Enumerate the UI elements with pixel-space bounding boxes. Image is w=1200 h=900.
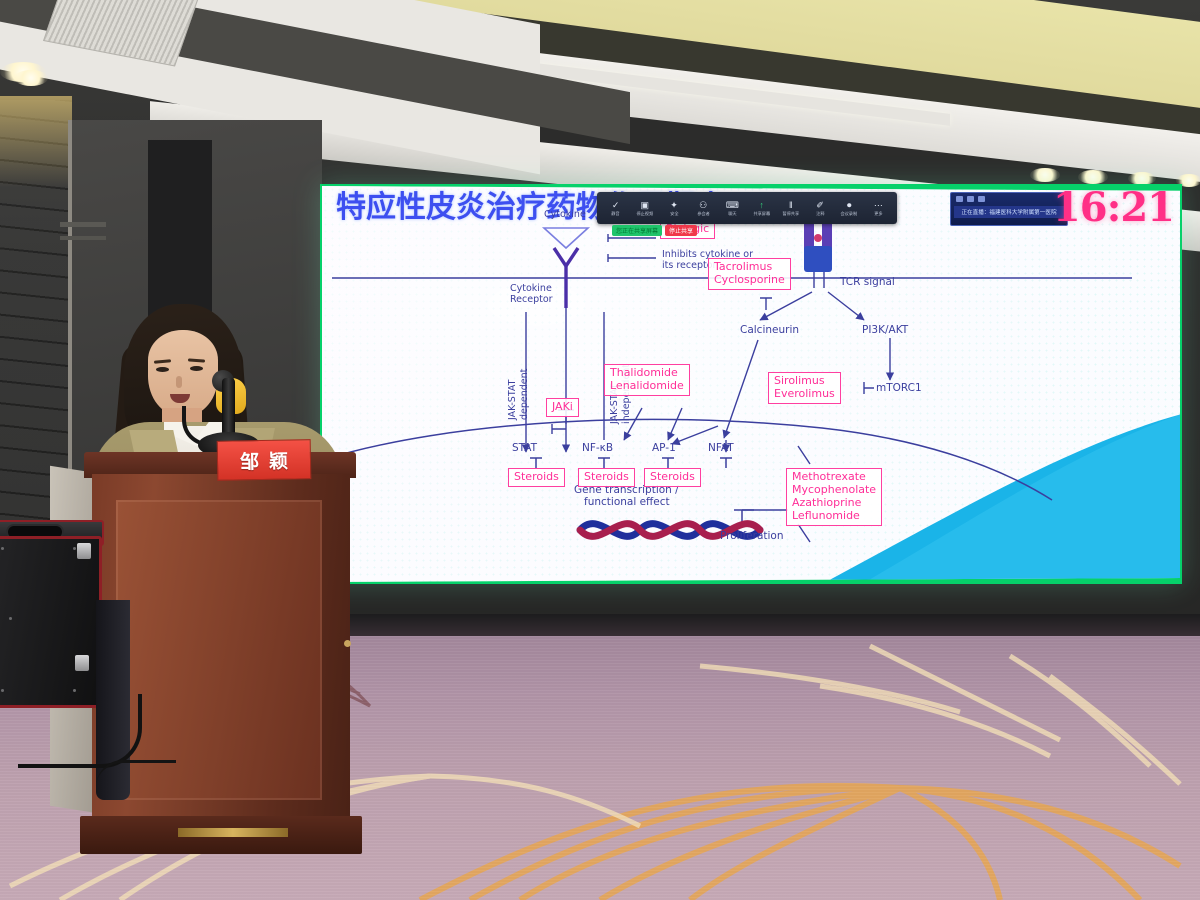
toolbar-share-screen-label: 共享屏幕 [753, 211, 770, 216]
record-icon: ⏺ [847, 201, 852, 210]
label-nf-kb: NF-κB [582, 442, 613, 454]
livestream-mini-window[interactable]: 正在直播：福建医科大学附属第一医院 [950, 192, 1068, 226]
toolbar-participants-button[interactable]: ⚇ 参会者 [689, 201, 718, 216]
downlight-3 [1030, 168, 1060, 182]
steroids-box-3: Steroids [644, 468, 701, 487]
shield-icon: ✦ [670, 201, 678, 210]
nameplate-surname: 邹 [240, 447, 259, 474]
mini-window-titlebar [951, 193, 1067, 205]
label-ap-1: AP-1 [652, 442, 676, 454]
toolbar-camera-button[interactable]: ▣ 停止视频 [630, 201, 659, 216]
toolbar-security-label: 安全 [670, 211, 678, 216]
antimetabolite-box: Methotrexate Mycophenolate Azathioprine … [786, 468, 882, 526]
label-nfat: NFAT [708, 442, 734, 454]
participants-icon: ⚇ [699, 201, 707, 210]
label-cytokine-receptor-line2: Receptor [510, 295, 553, 306]
toolbar-microphone-label: 静音 [611, 211, 619, 216]
flight-case-rivet-4 [73, 689, 76, 692]
projection-screen: 特应性皮炎治疗药物作用靶点 [320, 184, 1182, 584]
wall-strip-1 [60, 222, 106, 227]
cyclosporine-label: Cyclosporine [714, 274, 785, 287]
maximize-icon[interactable] [967, 196, 974, 202]
flight-case-rivet-5 [9, 617, 12, 620]
steroids-box-1: Steroids [508, 468, 565, 487]
label-proliferation: Proliferation [720, 530, 784, 542]
azathioprine-label: Azathioprine [792, 497, 876, 510]
podium-front-inset [116, 500, 322, 800]
toolbar-record-button[interactable]: ⏺ 会议录制 [835, 201, 864, 216]
nose [176, 376, 182, 388]
pathway-diagram: Cytokine Cytokine Receptor Inhibits cyto… [492, 212, 1132, 562]
jaki-box: JAKi [546, 398, 579, 417]
conference-room-photo: 特应性皮炎治疗药物作用靶点 [0, 0, 1200, 900]
label-pi3k-akt: PI3K/AKT [862, 324, 908, 336]
close-icon[interactable] [978, 196, 985, 202]
leflunomide-label: Leflunomide [792, 510, 876, 523]
toolbar-annotate-label: 注释 [816, 211, 824, 216]
label-gene-transcription-line2: functional effect [584, 496, 670, 508]
nameplate-given-name: 颖 [269, 446, 288, 473]
mycophenolate-label: Mycophenolate [792, 484, 876, 497]
lenalidomide-label: Lenalidomide [610, 380, 684, 393]
toolbar-more-button[interactable]: ⋯ 更多 [864, 201, 893, 216]
sharing-status-badge: 您正在共享屏幕 [612, 225, 662, 236]
toolbar-share-screen-button[interactable]: ↑ 共享屏幕 [747, 201, 776, 216]
steroids-box-2: Steroids [578, 468, 635, 487]
microphone-icon: ✓ [612, 201, 620, 210]
label-tcr-signal: TCR signal [840, 276, 895, 288]
label-stat: STAT [512, 442, 537, 454]
flight-case [0, 536, 102, 708]
label-cytokine: Cytokine [544, 210, 586, 221]
tacrolimus-cyclosporine-box: Tacrolimus Cyclosporine [708, 258, 791, 290]
chat-icon: ⌨ [726, 201, 739, 210]
toolbar-camera-label: 停止视频 [636, 211, 653, 216]
floor-cable-1 [18, 694, 142, 768]
toolbar-pause-share-button[interactable]: ‖ 暂停共享 [776, 201, 805, 216]
wall-strip-2 [60, 236, 106, 240]
everolimus-label: Everolimus [774, 388, 835, 401]
podium-knob [344, 640, 351, 647]
thalidomide-lenalidomide-box: Thalidomide Lenalidomide [604, 364, 690, 396]
toolbar-annotate-button[interactable]: ✐ 注释 [805, 201, 834, 216]
wood-wall-uplight [0, 96, 72, 188]
flight-case-rivet-1 [1, 547, 4, 550]
slide-clock: 16:21 [1053, 188, 1174, 228]
share-screen-icon: ↑ [759, 201, 764, 210]
floor-cable-2 [96, 760, 176, 787]
more-icon: ⋯ [874, 201, 883, 210]
downlight-4 [1078, 170, 1108, 184]
eye-right [190, 366, 203, 371]
toolbar-microphone-button[interactable]: ✓ 静音 [601, 201, 630, 216]
minimize-icon[interactable] [956, 196, 963, 202]
livestream-title: 正在直播：福建医科大学附属第一医院 [954, 206, 1064, 218]
label-jak-stat-dependent: JAK-STAT [508, 380, 519, 420]
label-jak-stat-dependent-line2: dependent [520, 369, 531, 420]
flight-case-rivet-3 [1, 689, 4, 692]
camera-icon: ▣ [641, 201, 650, 210]
downlight-2 [14, 70, 48, 86]
meeting-toolbar[interactable]: ✓ 静音 ▣ 停止视频 ✦ 安全 ⚇ 参会者 ⌨ 聊天 [597, 192, 897, 224]
tcr-receptor-icon [804, 222, 832, 272]
label-calcineurin: Calcineurin [740, 324, 799, 336]
stop-sharing-button[interactable]: 停止共享 [665, 225, 697, 236]
toolbar-record-label: 会议录制 [841, 211, 858, 216]
podium-gold-trim [178, 828, 288, 837]
label-mtorc1: mTORC1 [876, 382, 922, 394]
toolbar-participants-label: 参会者 [697, 211, 710, 216]
eye-left [156, 367, 169, 372]
toolbar-more-label: 更多 [874, 211, 882, 216]
pause-share-icon: ‖ [789, 201, 793, 210]
sharing-notice-bar: 您正在共享屏幕 停止共享 [612, 224, 697, 236]
toolbar-pause-share-label: 暂停共享 [782, 211, 799, 216]
toolbar-chat-label: 聊天 [728, 211, 736, 216]
flight-case-latch-bottom [75, 655, 89, 671]
annotate-icon: ✐ [816, 201, 824, 210]
sirolimus-everolimus-box: Sirolimus Everolimus [768, 372, 841, 404]
toolbar-chat-button[interactable]: ⌨ 聊天 [718, 201, 747, 216]
flight-case-latch-top [77, 543, 91, 559]
slide-surface: 特应性皮炎治疗药物作用靶点 [322, 186, 1180, 582]
flight-case-rivet-2 [73, 547, 76, 550]
speaker-nameplate: 邹 颖 [217, 439, 312, 481]
face [148, 330, 218, 416]
toolbar-security-button[interactable]: ✦ 安全 [659, 201, 688, 216]
